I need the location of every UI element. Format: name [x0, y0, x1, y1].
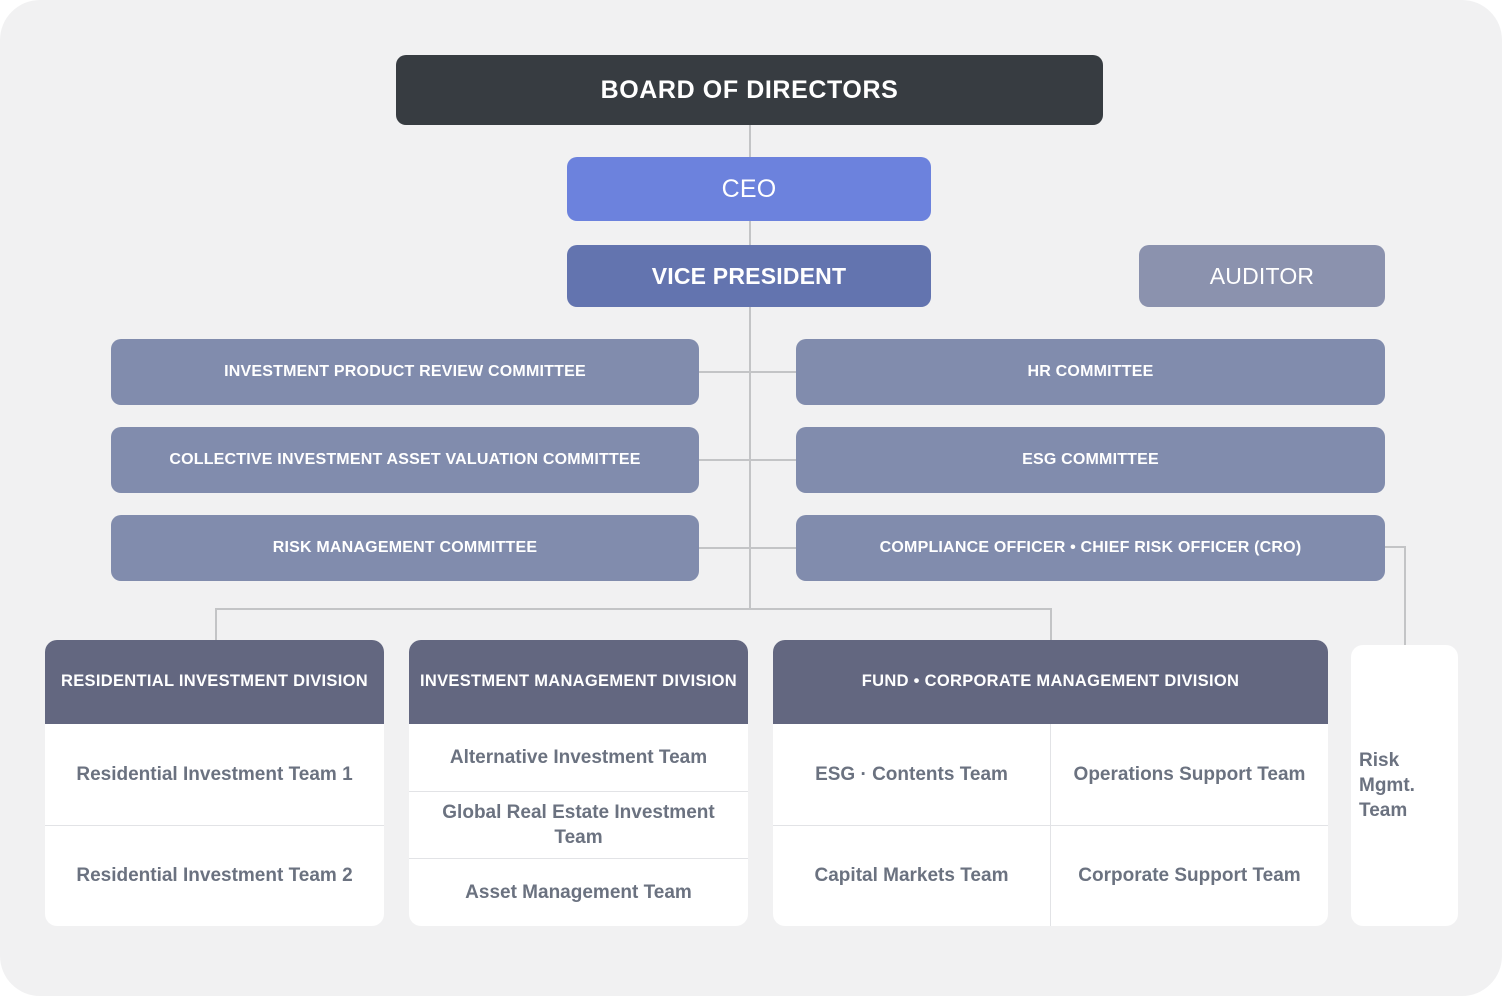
team-item[interactable]: Residential Investment Team 2: [45, 825, 384, 927]
team-item[interactable]: Capital Markets Team: [773, 826, 1050, 927]
team-grid-row: Capital Markets Team Corporate Support T…: [773, 825, 1328, 927]
division-investment-management[interactable]: INVESTMENT MANAGEMENT DIVISION Alternati…: [409, 640, 748, 926]
team-item[interactable]: Alternative Investment Team: [409, 724, 748, 791]
division-title: FUND • CORPORATE MANAGEMENT DIVISION: [773, 640, 1328, 724]
division-residential-investment[interactable]: RESIDENTIAL INVESTMENT DIVISION Resident…: [45, 640, 384, 926]
org-chart-page: BOARD OF DIRECTORS CEO VICE PRESIDENT AU…: [0, 0, 1502, 996]
team-item[interactable]: Operations Support Team: [1050, 724, 1328, 825]
division-fund-corporate-management[interactable]: FUND • CORPORATE MANAGEMENT DIVISION ESG…: [773, 640, 1328, 926]
ceo-label: CEO: [722, 174, 777, 205]
connector-ceo-to-vp: [749, 221, 751, 245]
committee-label: INVESTMENT PRODUCT REVIEW COMMITTEE: [224, 362, 586, 382]
team-item[interactable]: Residential Investment Team 1: [45, 724, 384, 825]
connector-stub-left-2: [699, 459, 750, 461]
connector-cro-elbow: [1385, 546, 1406, 548]
connector-stub-left-1: [699, 371, 750, 373]
committee-label: ESG COMMITTEE: [1022, 450, 1159, 470]
team-item[interactable]: Corporate Support Team: [1050, 826, 1328, 927]
connector-vp-spine: [749, 307, 751, 609]
node-collective-investment-asset-valuation-committee[interactable]: COLLECTIVE INVESTMENT ASSET VALUATION CO…: [111, 427, 699, 493]
node-esg-committee[interactable]: ESG COMMITTEE: [796, 427, 1385, 493]
division-team-list: Risk Mgmt. Team: [1351, 645, 1458, 926]
division-title: INVESTMENT MANAGEMENT DIVISION: [409, 640, 748, 724]
node-ceo[interactable]: CEO: [567, 157, 931, 221]
connector-board-to-ceo: [749, 125, 751, 157]
committee-label: COMPLIANCE OFFICER • CHIEF RISK OFFICER …: [880, 538, 1302, 558]
division-team-grid: ESG · Contents Team Operations Support T…: [773, 724, 1328, 926]
division-title: RESIDENTIAL INVESTMENT DIVISION: [45, 640, 384, 724]
team-item[interactable]: Global Real Estate Investment Team: [409, 791, 748, 859]
division-team-list: Alternative Investment Team Global Real …: [409, 724, 748, 926]
connector-cro-to-risk-team: [1404, 546, 1406, 647]
node-vice-president[interactable]: VICE PRESIDENT: [567, 245, 931, 307]
node-risk-management-committee[interactable]: RISK MANAGEMENT COMMITTEE: [111, 515, 699, 581]
connector-division-bar: [215, 608, 1051, 610]
node-compliance-officer-cro[interactable]: COMPLIANCE OFFICER • CHIEF RISK OFFICER …: [796, 515, 1385, 581]
node-board-of-directors[interactable]: BOARD OF DIRECTORS: [396, 55, 1103, 125]
node-hr-committee[interactable]: HR COMMITTEE: [796, 339, 1385, 405]
connector-stub-left-3: [699, 547, 750, 549]
connector-stub-right-1: [749, 371, 797, 373]
committee-label: HR COMMITTEE: [1028, 362, 1154, 382]
team-item[interactable]: Asset Management Team: [409, 858, 748, 926]
team-item[interactable]: ESG · Contents Team: [773, 724, 1050, 825]
connector-stub-right-3: [749, 547, 797, 549]
connector-drop-division-3: [1050, 608, 1052, 642]
division-risk-management-team[interactable]: Risk Mgmt. Team: [1351, 645, 1458, 926]
node-investment-product-review-committee[interactable]: INVESTMENT PRODUCT REVIEW COMMITTEE: [111, 339, 699, 405]
committee-label: RISK MANAGEMENT COMMITTEE: [273, 538, 538, 558]
auditor-label: AUDITOR: [1210, 262, 1315, 290]
node-auditor[interactable]: AUDITOR: [1139, 245, 1385, 307]
team-grid-row: ESG · Contents Team Operations Support T…: [773, 724, 1328, 825]
committee-label: COLLECTIVE INVESTMENT ASSET VALUATION CO…: [169, 450, 640, 470]
team-item[interactable]: Risk Mgmt. Team: [1351, 645, 1458, 926]
vice-president-label: VICE PRESIDENT: [652, 262, 847, 290]
connector-stub-right-2: [749, 459, 797, 461]
connector-drop-division-1: [215, 608, 217, 642]
board-label: BOARD OF DIRECTORS: [601, 75, 899, 106]
division-team-list: Residential Investment Team 1 Residentia…: [45, 724, 384, 926]
